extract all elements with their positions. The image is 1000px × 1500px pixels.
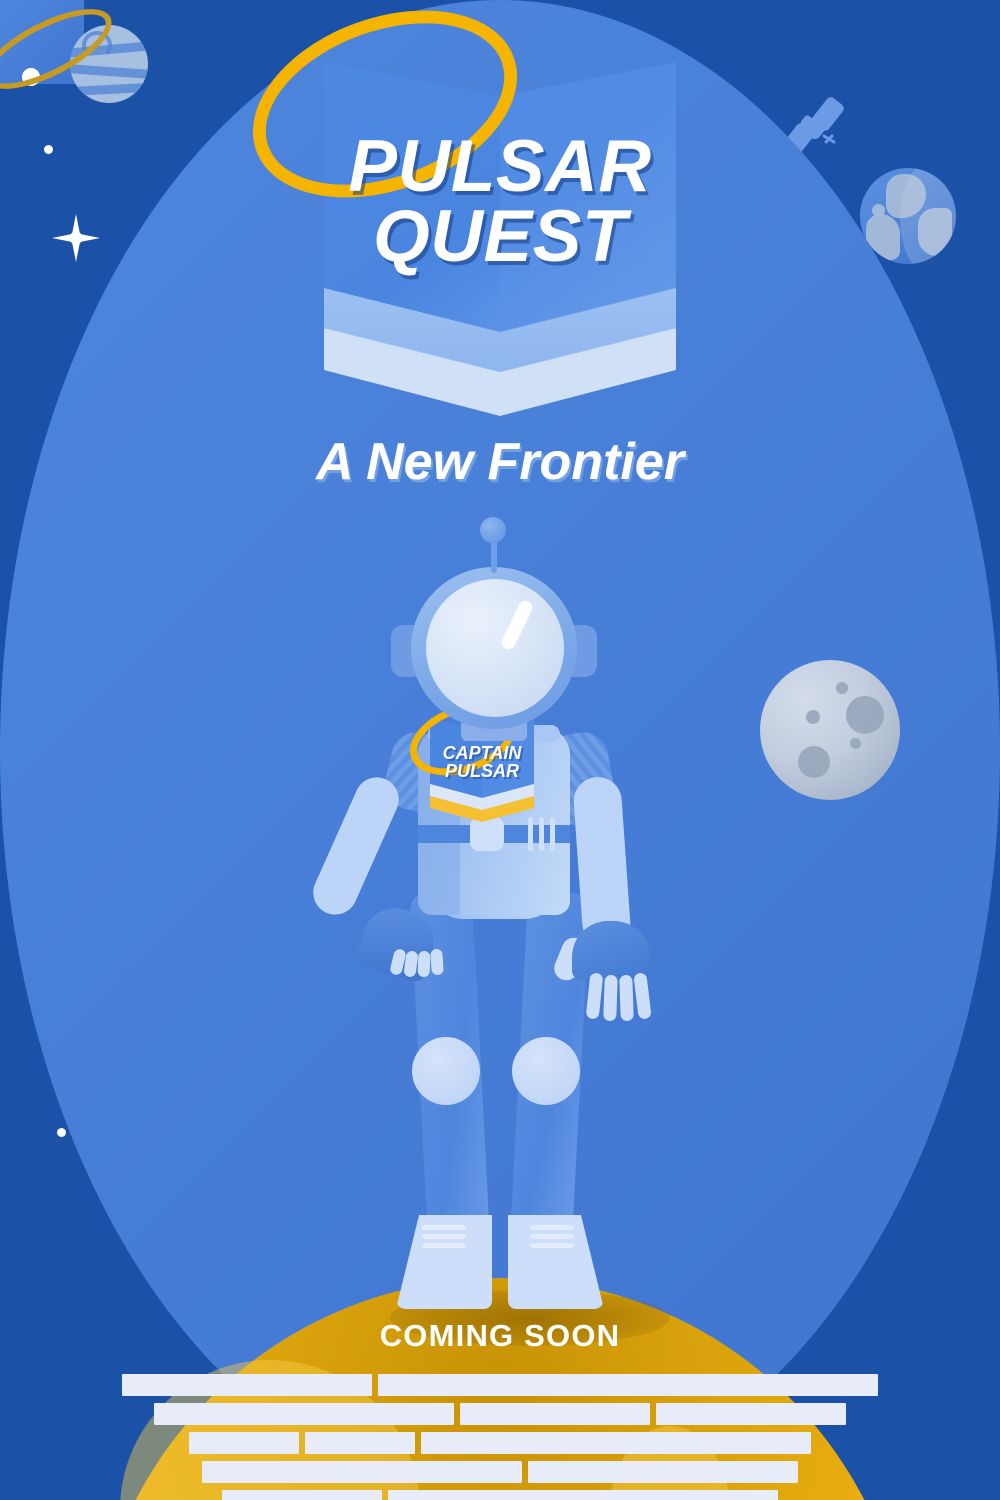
astronaut-right-glove (572, 921, 650, 979)
star-dot (57, 1128, 66, 1137)
poster-canvas: PULSAR QUEST A New Frontier (0, 0, 1000, 1500)
right-ankle-stripes (530, 1225, 574, 1249)
logo-title-line-1: PULSAR (310, 132, 690, 202)
astronaut-visor (426, 579, 564, 717)
sparkle-star-icon (50, 212, 102, 264)
placeholder-bar (656, 1403, 846, 1425)
placeholder-row (0, 1432, 1000, 1454)
astronaut-left-arm (306, 770, 406, 921)
astronaut-left-fingers (392, 949, 444, 979)
placeholder-bar (222, 1490, 382, 1500)
placeholder-text-bars (0, 1374, 1000, 1500)
astronaut-belt-stripes (528, 817, 562, 851)
earth-planet (860, 168, 956, 264)
logo-title-line-2: QUEST (310, 202, 690, 272)
placeholder-bar (154, 1403, 454, 1425)
astronaut-antenna-ball (480, 517, 506, 543)
astronaut-right-knee-pad (512, 1037, 580, 1105)
chest-badge-line-1: CAPTAIN (443, 743, 522, 763)
placeholder-bar (202, 1461, 522, 1483)
placeholder-bar (305, 1432, 415, 1454)
pulsar-quest-logo: PULSAR QUEST (310, 40, 690, 425)
astronaut-belt-buckle (470, 817, 504, 851)
star-dot (44, 145, 53, 154)
placeholder-row (0, 1490, 1000, 1500)
placeholder-bar (528, 1461, 798, 1483)
left-ankle-stripes (422, 1225, 466, 1249)
placeholder-bar (122, 1374, 372, 1396)
placeholder-bar (388, 1490, 778, 1500)
placeholder-row (0, 1461, 1000, 1483)
placeholder-bar (378, 1374, 878, 1396)
logo-title: PULSAR QUEST (310, 132, 690, 272)
placeholder-row (0, 1403, 1000, 1425)
astronaut-right-fingers (588, 973, 650, 1023)
poster-subtitle: A New Frontier (0, 432, 1000, 492)
placeholder-bar (189, 1432, 299, 1454)
placeholder-row (0, 1374, 1000, 1396)
astronaut-captain-pulsar: CAPTAIN PULSAR (300, 525, 700, 1315)
astronaut-left-knee-pad (412, 1037, 480, 1105)
placeholder-bar (460, 1403, 650, 1425)
placeholder-bar (421, 1432, 811, 1454)
coming-soon-label: COMING SOON (0, 1318, 1000, 1354)
chest-badge-text: CAPTAIN PULSAR (424, 744, 540, 780)
chest-badge-line-2: PULSAR (445, 761, 519, 781)
cratered-moon (760, 660, 900, 800)
